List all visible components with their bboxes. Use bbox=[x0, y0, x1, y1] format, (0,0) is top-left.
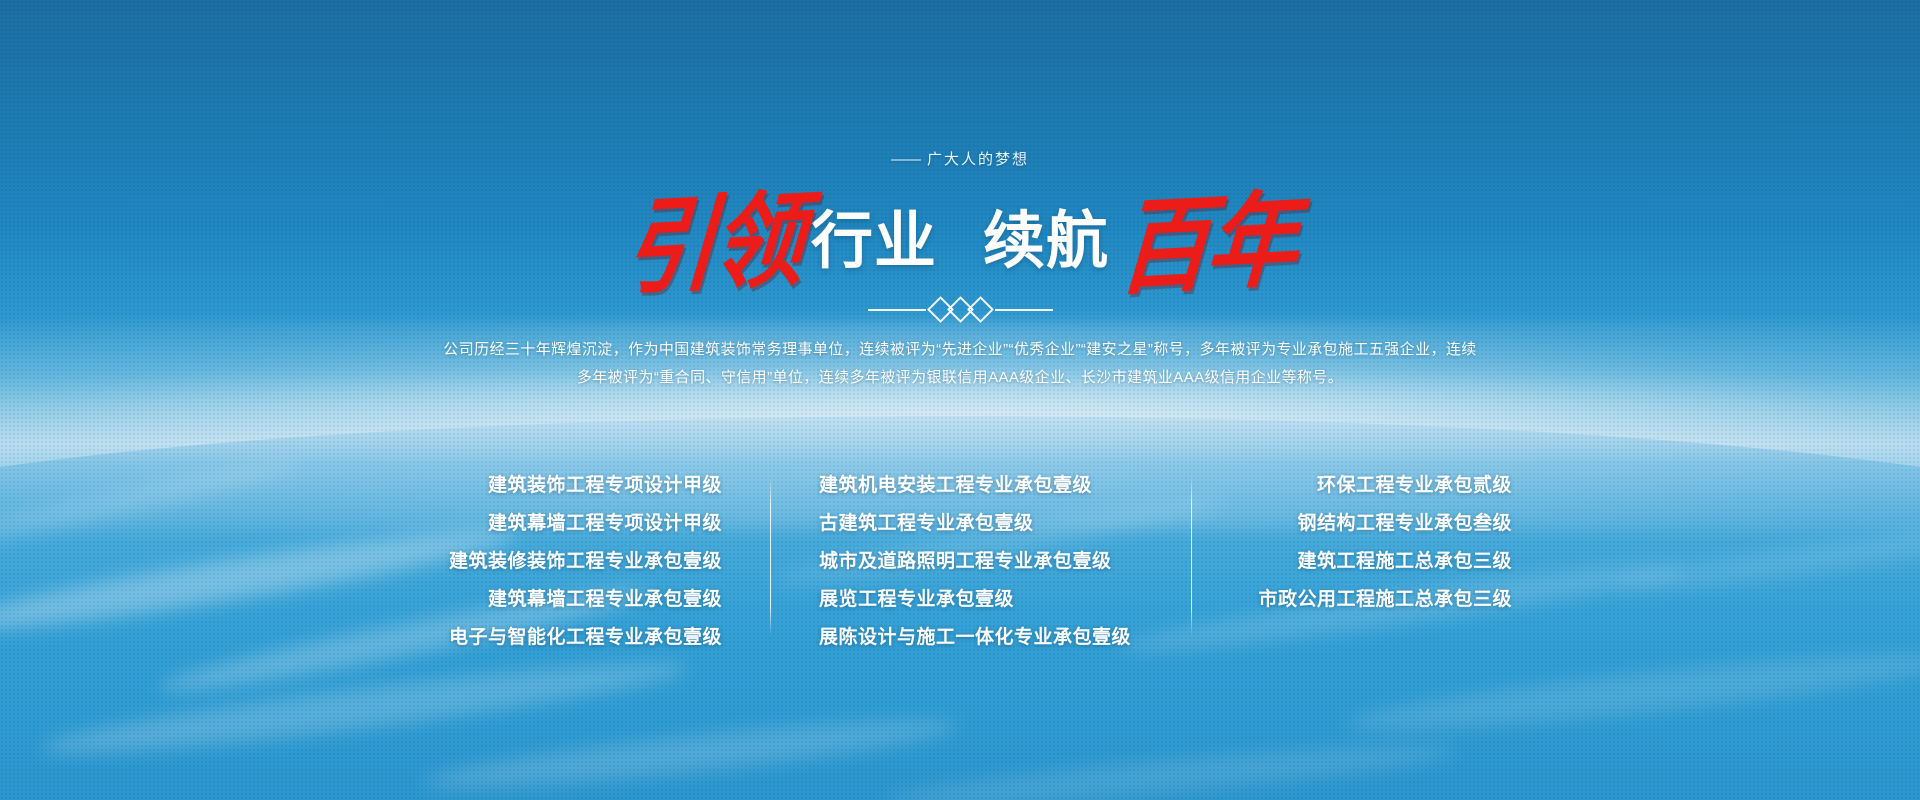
tagline-dash: —— bbox=[891, 151, 921, 168]
hero-tagline: ——广大人的梦想 bbox=[0, 148, 1920, 169]
headline-part-century-red: 百年 bbox=[1110, 155, 1304, 314]
company-description: 公司历经三十年辉煌沉淀，作为中国建筑装饰常务理事单位，连续被评为“先进企业”“优… bbox=[440, 336, 1480, 392]
qualifications-column-2: 建筑机电安装工程专业承包壹级 古建筑工程专业承包壹级 城市及道路照明工程专业承包… bbox=[771, 470, 1191, 649]
qualification-item: 环保工程专业承包贰级 bbox=[1317, 470, 1512, 497]
qualification-item: 电子与智能化工程专业承包壹级 bbox=[449, 622, 722, 649]
headline-part-industry-white: 行业 bbox=[811, 190, 937, 280]
qualification-item: 展陈设计与施工一体化专业承包壹级 bbox=[819, 622, 1131, 649]
qualifications-column-1: 建筑装饰工程专项设计甲级 建筑幕墙工程专项设计甲级 建筑装修装饰工程专业承包壹级… bbox=[392, 470, 770, 649]
qualifications-column-3: 环保工程专业承包贰级 钢结构工程专业承包叁级 建筑工程施工总承包三级 市政公用工… bbox=[1192, 470, 1528, 611]
qualification-item: 建筑机电安装工程专业承包壹级 bbox=[819, 470, 1092, 497]
qualification-item: 建筑工程施工总承包三级 bbox=[1297, 546, 1512, 573]
qualification-item: 建筑幕墙工程专业承包壹级 bbox=[488, 584, 722, 611]
qualification-item: 建筑幕墙工程专项设计甲级 bbox=[488, 508, 722, 535]
hero-headline: 引领 行业 续航 百年 bbox=[0, 180, 1920, 290]
qualification-item: 建筑装饰工程专项设计甲级 bbox=[488, 470, 722, 497]
qualifications-list: 建筑装饰工程专项设计甲级 建筑幕墙工程专项设计甲级 建筑装修装饰工程专业承包壹级… bbox=[392, 470, 1528, 649]
qualification-item: 市政公用工程施工总承包三级 bbox=[1258, 584, 1512, 611]
qualification-item: 建筑装修装饰工程专业承包壹级 bbox=[449, 546, 722, 573]
hero-banner: ——广大人的梦想 引领 行业 续航 百年 公司历经三十年辉煌沉淀，作为中国建筑装… bbox=[0, 0, 1920, 800]
company-description-line-1: 公司历经三十年辉煌沉淀，作为中国建筑装饰常务理事单位，连续被评为“先进企业”“优… bbox=[440, 336, 1480, 364]
qualification-item: 古建筑工程专业承包壹级 bbox=[819, 508, 1034, 535]
diamond-divider-ornament bbox=[0, 300, 1920, 319]
ornament-line-left bbox=[868, 309, 926, 311]
qualification-item: 城市及道路照明工程专业承包壹级 bbox=[819, 546, 1112, 573]
headline-part-endure-white: 续航 bbox=[983, 190, 1109, 280]
tagline-text: 广大人的梦想 bbox=[927, 151, 1029, 168]
qualification-item: 展览工程专业承包壹级 bbox=[819, 584, 1014, 611]
qualification-item: 钢结构工程专业承包叁级 bbox=[1297, 508, 1512, 535]
company-description-line-2: 多年被评为“重合同、守信用”单位，连续多年被评为银联信用AAA级企业、长沙市建筑… bbox=[440, 364, 1480, 392]
ornament-line-right bbox=[995, 309, 1053, 311]
headline-part-lead-red: 引领 bbox=[616, 155, 810, 314]
diamond-icon bbox=[967, 296, 994, 323]
